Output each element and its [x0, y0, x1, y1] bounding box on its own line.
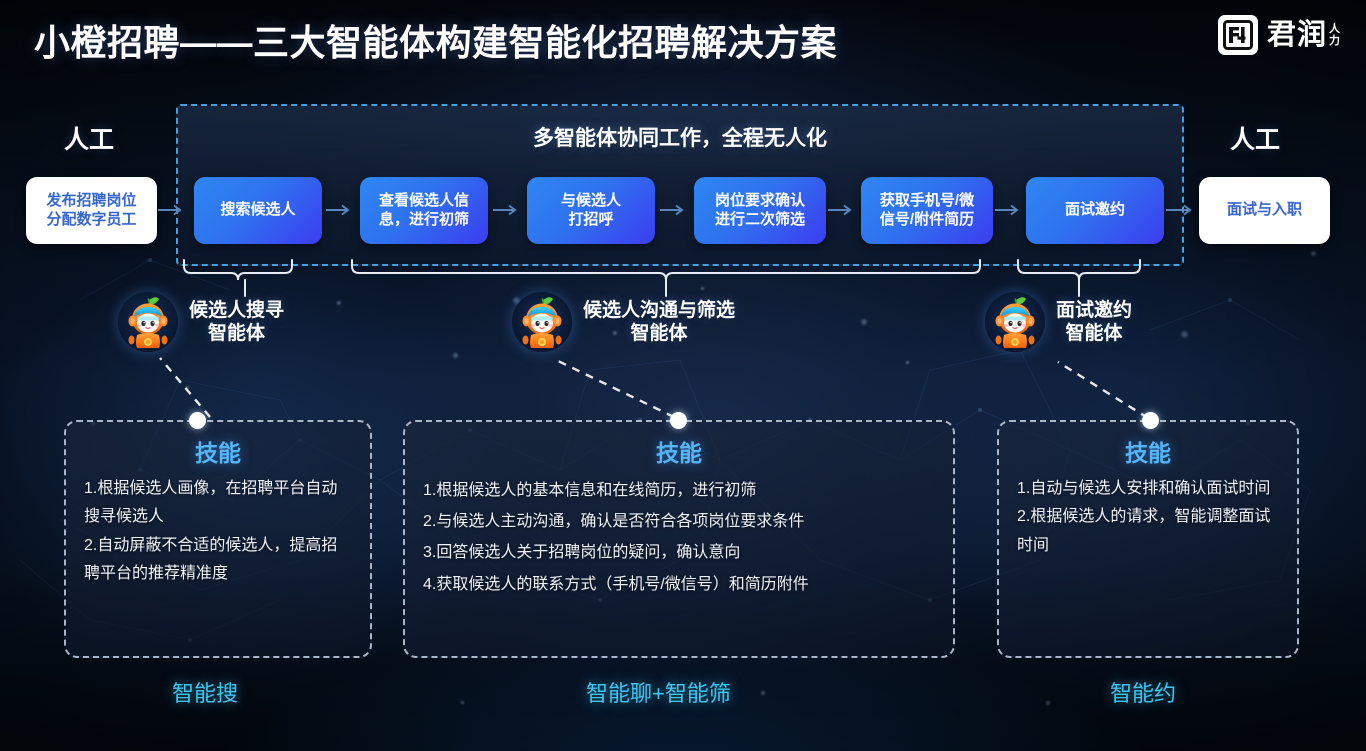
manual-label-left: 人工: [64, 120, 114, 156]
list-item: 1.自动与候选人安排和确认面试时间: [1017, 475, 1279, 503]
orange-robot-avatar-icon-2: [512, 292, 572, 352]
list-item: 2.自动屏蔽不合适的候选人，提高招聘平台的推荐精准度: [84, 532, 352, 589]
list-item: 1.根据候选人画像，在招聘平台自动搜寻候选人: [84, 475, 352, 532]
agent-card-1[interactable]: 候选人搜寻 智能体: [118, 292, 284, 352]
orange-robot-avatar-icon-1: [118, 292, 178, 352]
list-item: 4.获取候选人的联系方式（手机号/微信号）和简历附件: [423, 569, 935, 600]
connector-dot-1: [189, 412, 206, 429]
flow-step-2-label: 查看候选人信 息，进行初筛: [379, 192, 469, 230]
manual-step-publish-job-label: 发布招聘岗位 分配数字员工: [46, 192, 136, 230]
skill-card-2: 技能 1.根据候选人的基本信息和在线简历，进行初筛 2.与候选人主动沟通，确认是…: [403, 420, 955, 658]
logo-mark-icon: [1218, 15, 1258, 55]
skill-card-2-title: 技能: [423, 434, 935, 468]
flow-heading: 多智能体协同工作，全程无人化: [178, 122, 1182, 152]
agent-name-2: 候选人沟通与筛选 智能体: [583, 299, 735, 345]
skill-card-3: 技能 1.自动与候选人安排和确认面试时间 2.根据候选人的请求，智能调整面试时间: [997, 420, 1299, 658]
agent-card-3[interactable]: 面试邀约 智能体: [985, 292, 1132, 352]
manual-label-right: 人工: [1230, 120, 1280, 156]
flow-step-2[interactable]: 查看候选人信 息，进行初筛: [360, 177, 488, 244]
flow-step-4[interactable]: 岗位要求确认 进行二次筛选: [694, 177, 826, 244]
brand-logo: 君润 人 力: [1218, 15, 1340, 55]
agent-name-1: 候选人搜寻 智能体: [189, 299, 284, 345]
page-header: 小橙招聘——三大智能体构建智能化招聘解决方案 君润 人 力: [0, 0, 1366, 78]
bottom-label-2: 智能聊+智能筛: [586, 676, 731, 708]
agent-name-3: 面试邀约 智能体: [1056, 299, 1132, 345]
agent-card-2[interactable]: 候选人沟通与筛选 智能体: [512, 292, 735, 352]
logo-sub-bottom: 力: [1329, 36, 1340, 48]
jr-monogram-icon: [1223, 20, 1253, 50]
manual-step-interview-onboard[interactable]: 面试与入职: [1199, 177, 1330, 244]
flow-step-5[interactable]: 获取手机号/微 信号/附件简历: [861, 177, 993, 244]
bottom-label-1: 智能搜: [172, 676, 238, 708]
orange-robot-avatar-icon-3: [985, 292, 1045, 352]
flow-arrow-icon-1: [158, 203, 188, 217]
flow-arrow-icon-5: [828, 203, 858, 217]
flow-step-5-label: 获取手机号/微 信号/附件简历: [880, 192, 974, 230]
list-item: 2.根据候选人的请求，智能调整面试时间: [1017, 503, 1279, 560]
flow-step-6[interactable]: 面试邀约: [1026, 177, 1164, 244]
flow-arrow-icon-4: [660, 203, 690, 217]
logo-subtext: 人 力: [1329, 24, 1340, 49]
manual-step-publish-job[interactable]: 发布招聘岗位 分配数字员工: [26, 177, 157, 244]
flow-arrow-icon-2: [326, 203, 356, 217]
skill-card-1: 技能 1.根据候选人画像，在招聘平台自动搜寻候选人 2.自动屏蔽不合适的候选人，…: [64, 420, 372, 658]
logo-wordmark: 君润 人 力: [1267, 21, 1340, 50]
logo-name: 君润: [1267, 21, 1327, 50]
flow-arrow-icon-7: [1166, 203, 1196, 217]
flow-step-1[interactable]: 搜索候选人: [194, 177, 322, 244]
flow-step-4-label: 岗位要求确认 进行二次筛选: [715, 192, 805, 230]
list-item: 1.根据候选人的基本信息和在线简历，进行初筛: [423, 475, 935, 506]
page-title: 小橙招聘——三大智能体构建智能化招聘解决方案: [34, 14, 837, 66]
manual-step-interview-onboard-label: 面试与入职: [1227, 201, 1302, 220]
flow-step-6-label: 面试邀约: [1065, 201, 1125, 220]
flow-step-3-label: 与候选人 打招呼: [561, 192, 621, 230]
connector-dot-3: [1142, 412, 1159, 429]
list-item: 2.与候选人主动沟通，确认是否符合各项岗位要求条件: [423, 506, 935, 537]
list-item: 3.回答候选人关于招聘岗位的疑问，确认意向: [423, 537, 935, 568]
flow-arrow-icon-6: [995, 203, 1025, 217]
skill-card-3-list: 1.自动与候选人安排和确认面试时间 2.根据候选人的请求，智能调整面试时间: [1017, 475, 1279, 560]
flow-step-3[interactable]: 与候选人 打招呼: [527, 177, 655, 244]
connector-dot-2: [670, 412, 687, 429]
flow-step-1-label: 搜索候选人: [220, 201, 295, 220]
skill-card-3-title: 技能: [1017, 434, 1279, 468]
bottom-label-3: 智能约: [1110, 676, 1176, 708]
skill-card-2-list: 1.根据候选人的基本信息和在线简历，进行初筛 2.与候选人主动沟通，确认是否符合…: [423, 475, 935, 600]
skill-card-1-list: 1.根据候选人画像，在招聘平台自动搜寻候选人 2.自动屏蔽不合适的候选人，提高招…: [84, 475, 352, 589]
flow-arrow-icon-3: [493, 203, 523, 217]
skill-card-1-title: 技能: [84, 434, 352, 468]
